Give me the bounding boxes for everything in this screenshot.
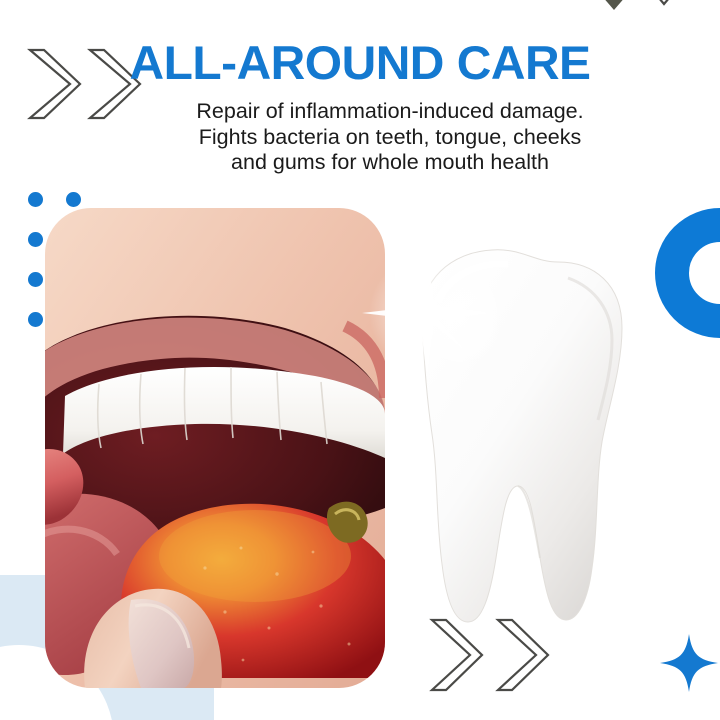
- bottom-chevrons-decoration: [424, 618, 564, 694]
- poster-canvas: ALL-AROUND CARE Repair of inflammation-i…: [0, 0, 720, 720]
- subtitle-line-1: Repair of inflammation-induced damage.: [90, 99, 690, 125]
- tooth-shine-icon: [352, 238, 502, 388]
- filled-chevron-down-icon: [576, 0, 652, 10]
- dot: [28, 232, 43, 247]
- dot: [28, 192, 43, 207]
- chevron-right-icon: [432, 620, 482, 690]
- chevron-right-icon: [498, 620, 548, 690]
- outline-chevron-down-icon: [632, 0, 698, 4]
- page-title: ALL-AROUND CARE: [0, 38, 720, 88]
- subtitle-line-2: Fights bacteria on teeth, tongue, cheeks: [90, 125, 690, 151]
- subtitle-block: Repair of inflammation-induced damage. F…: [90, 99, 690, 176]
- photo-illustration: [45, 208, 385, 688]
- sparkle-icon: [658, 632, 720, 694]
- dot: [28, 272, 43, 287]
- mouth-apple-photo: [45, 208, 385, 688]
- subtitle-line-3: and gums for whole mouth health: [90, 150, 690, 176]
- dot: [66, 192, 81, 207]
- dot: [28, 312, 43, 327]
- blue-ring-decoration: [655, 208, 720, 338]
